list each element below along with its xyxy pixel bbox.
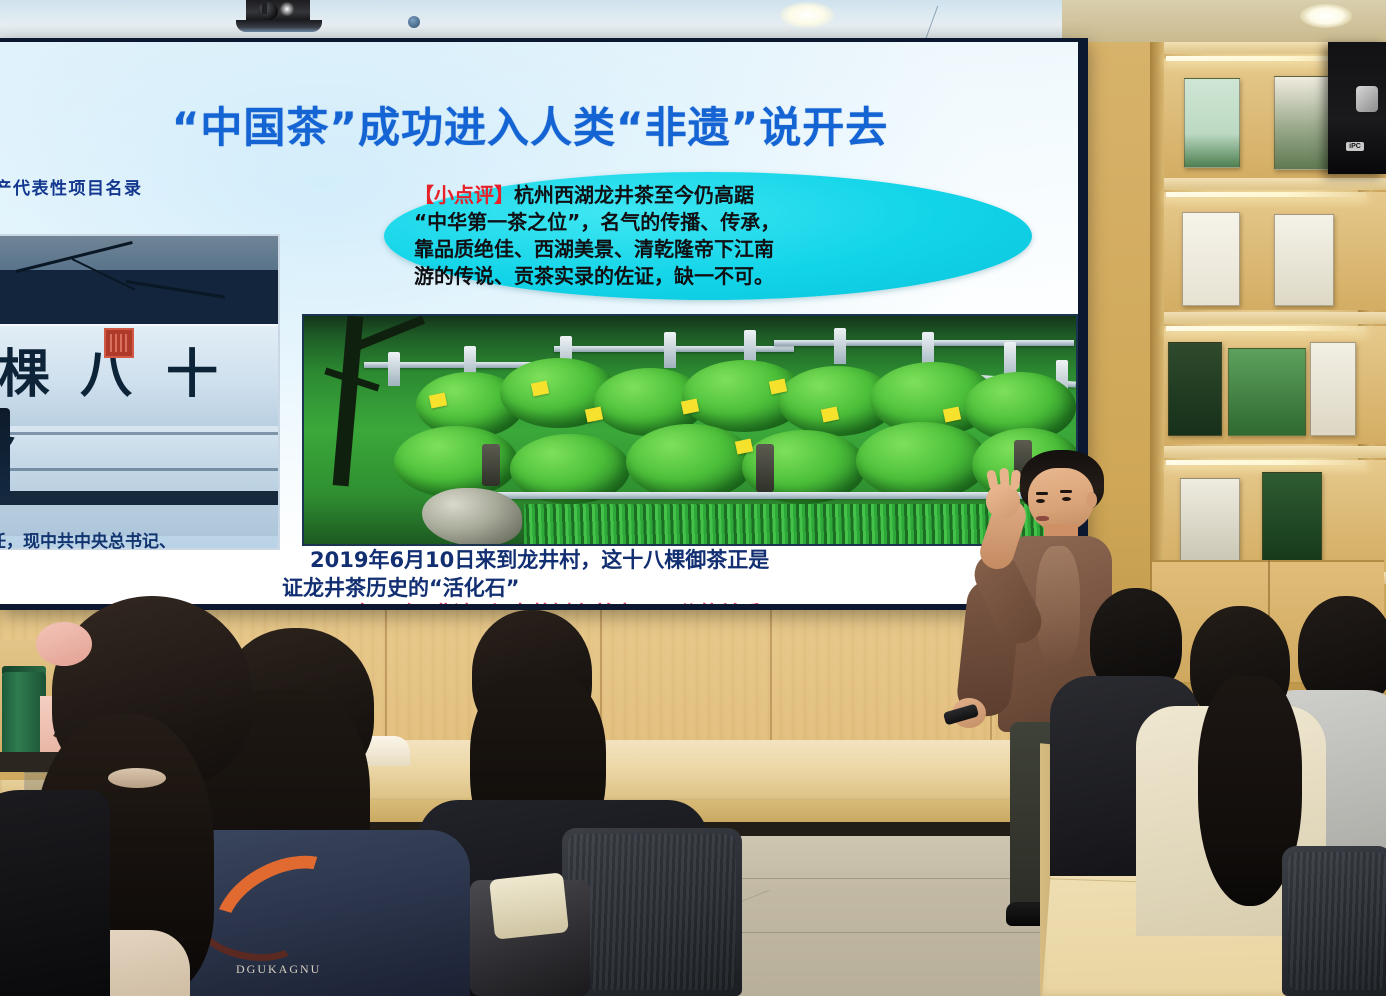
stone-tablet-photo: 棵 八 十 xyxy=(0,234,280,550)
tablet-char: 十 xyxy=(166,332,218,407)
projection-screen: “中国茶”成功进入人类“非遗”说开去 市 遗产代表性项目名录 棵 八 十 xyxy=(0,42,1078,604)
book xyxy=(1182,212,1240,306)
presenter-mouth xyxy=(1036,516,1049,521)
projector-mount xyxy=(236,20,322,32)
book xyxy=(1274,76,1334,170)
projector xyxy=(236,0,322,32)
slide-title: “中国茶”成功进入人类“非遗”说开去 xyxy=(0,94,1060,155)
book xyxy=(1168,342,1222,436)
left-heading-line2: 遗产代表性项目名录 xyxy=(0,178,246,200)
presenter-ear xyxy=(1086,492,1097,508)
book xyxy=(1184,78,1240,168)
speaker-logo: iPC xyxy=(1346,142,1364,151)
callout-line2: “中华第一茶之位”，名气的传播、传承， xyxy=(414,209,1014,236)
chair[interactable] xyxy=(1282,846,1386,996)
book xyxy=(1274,214,1334,306)
seal-stamp-icon xyxy=(104,328,134,358)
callout-line4: 游的传说、贡茶实录的佐证，缺一不可。 xyxy=(414,263,1014,290)
callout-text: 【小点评】杭州西湖龙井茶至今仍高踞 “中华第一茶之位”，名气的传播、传承， 靠品… xyxy=(414,182,1014,290)
hoodie-logo-text: DGUKAGNU xyxy=(236,962,321,977)
silhouette-figure xyxy=(0,408,10,496)
garden-rock xyxy=(422,488,522,546)
callout-tag: 【小点评】 xyxy=(414,183,514,207)
book xyxy=(1262,472,1322,566)
tablet-char: 棵 xyxy=(0,332,50,407)
speaker-bracket xyxy=(1356,86,1378,112)
hair-bow xyxy=(36,622,92,666)
hair-tie xyxy=(108,768,166,788)
slide-left-heading: 市 遗产代表性项目名录 xyxy=(0,154,246,200)
projector-lamp-glow xyxy=(280,1,294,17)
backpack-strap xyxy=(489,872,569,939)
book xyxy=(1310,342,1356,436)
projector-body xyxy=(246,0,310,22)
projector-lens-icon xyxy=(258,2,278,20)
shadow-band xyxy=(0,491,278,505)
lecture-room-photo: iPC “中国茶”成功进入人类“非遗”说开去 市 遗产代表性项目名录 棵 八 十 xyxy=(0,0,1386,996)
chair-mesh xyxy=(568,834,736,990)
book xyxy=(1228,348,1306,436)
stone-steps xyxy=(0,426,278,536)
projector-stem xyxy=(262,0,267,14)
left-caption-line1: 主任，现中共中央总书记、 xyxy=(0,532,262,553)
left-caption-line2: 井 xyxy=(0,553,262,574)
ceiling-light xyxy=(1300,4,1352,28)
left-photo-caption: 主任，现中共中央总书记、 井 xyxy=(0,532,262,574)
smoke-detector-icon xyxy=(408,16,420,28)
left-heading-line1: 市 xyxy=(0,154,246,178)
callout-line1: 杭州西湖龙井茶至今仍高踞 xyxy=(514,183,754,207)
callout-line3: 靠品质绝佳、西湖美景、清乾隆帝下江南 xyxy=(414,236,1014,263)
chair-mesh xyxy=(1288,852,1386,990)
book xyxy=(1180,478,1240,564)
presenter-torso-highlight xyxy=(1036,546,1080,666)
